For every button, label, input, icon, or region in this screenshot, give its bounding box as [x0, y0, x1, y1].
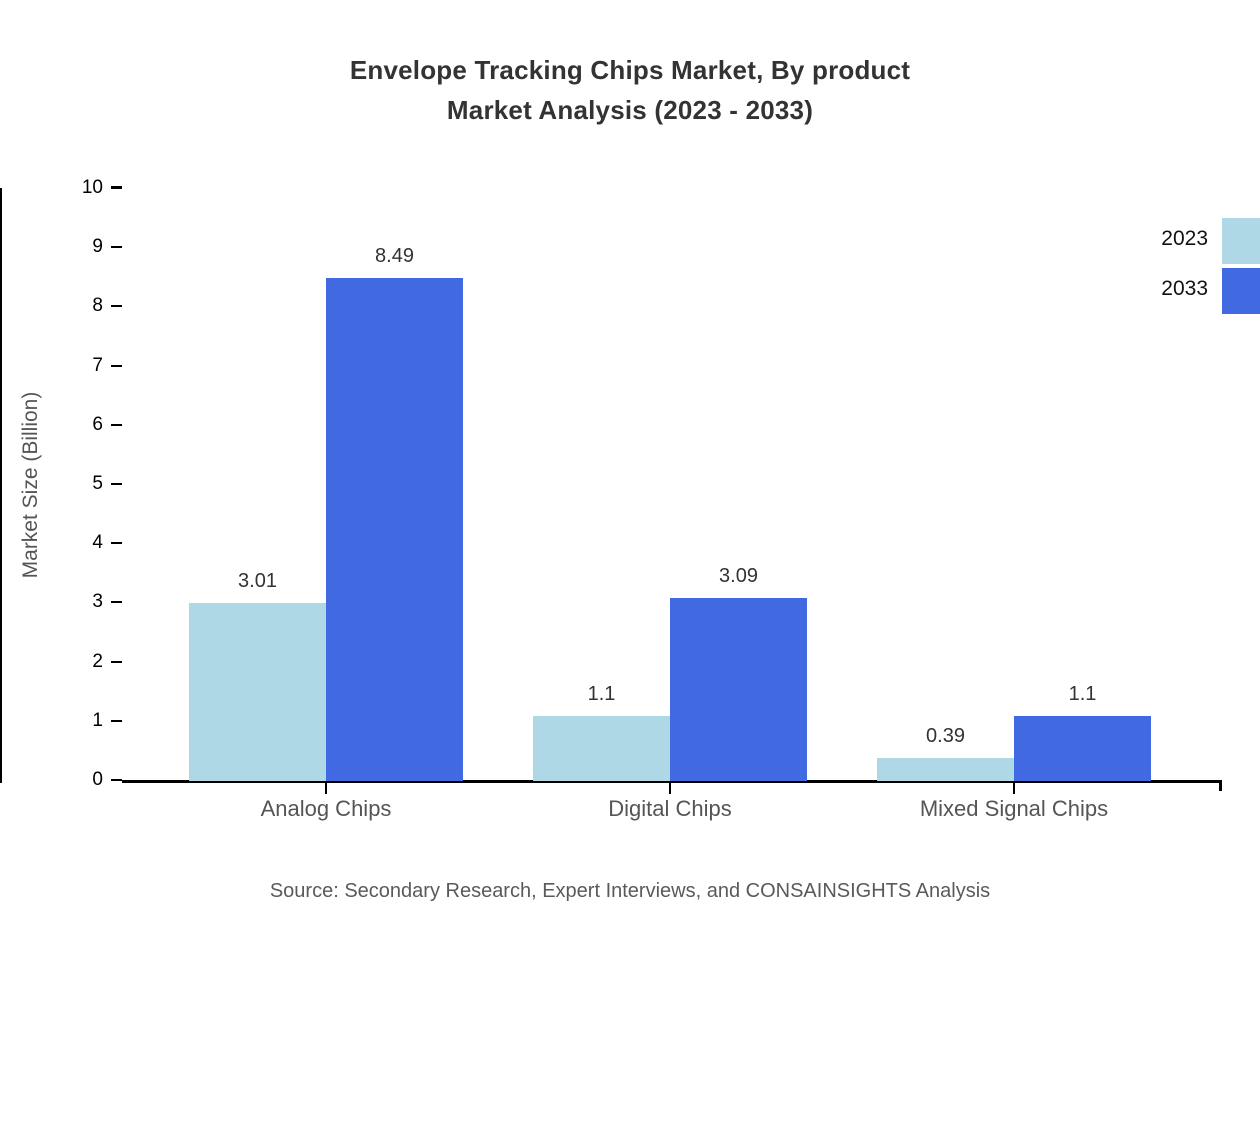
y-tick-mark — [111, 720, 122, 722]
legend-color-swatch — [1222, 268, 1260, 314]
y-axis-spine — [0, 188, 2, 783]
y-tick-mark — [111, 483, 122, 485]
y-tick-mark — [111, 187, 122, 189]
bar-value-label: 1.1 — [533, 683, 670, 705]
bar-digital-chips-2023[interactable] — [533, 716, 670, 781]
legend-label: 2023 — [1161, 226, 1208, 252]
y-tick-label: 6 — [43, 415, 103, 434]
source-note: Source: Secondary Research, Expert Inter… — [0, 878, 1260, 904]
y-tick-label: 4 — [43, 533, 103, 552]
chart-figure: Envelope Tracking Chips Market, By produ… — [0, 0, 1260, 920]
y-tick-label: 5 — [43, 474, 103, 493]
bar-value-label: 1.1 — [1014, 683, 1151, 705]
y-tick-mark — [111, 424, 122, 426]
y-tick-mark — [111, 779, 122, 781]
bar-value-label: 3.09 — [670, 565, 807, 587]
bar-analog-chips-2033[interactable] — [326, 278, 463, 781]
x-tick-mark — [1013, 783, 1015, 794]
bar-digital-chips-2033[interactable] — [670, 598, 807, 781]
bar-value-label: 0.39 — [877, 725, 1014, 747]
legend-color-swatch — [1222, 218, 1260, 264]
x-tick-mark — [325, 783, 327, 794]
bar-analog-chips-2023[interactable] — [189, 603, 326, 781]
y-tick-label: 3 — [43, 592, 103, 611]
y-tick-label: 7 — [43, 356, 103, 375]
y-tick-label: 1 — [43, 711, 103, 730]
bar-value-label: 8.49 — [326, 245, 463, 267]
y-tick-label: 10 — [43, 178, 103, 197]
x-tick-label-analog-chips: Analog Chips — [156, 795, 496, 823]
y-tick-mark — [111, 661, 122, 663]
chart-title-line-1: Envelope Tracking Chips Market, By produ… — [0, 50, 1260, 90]
plot-area: 3.018.491.13.090.391.1 — [122, 188, 1222, 781]
y-axis-label-wrapper: Market Size (Billion) — [14, 700, 48, 1130]
y-tick-mark — [111, 542, 122, 544]
legend-item-2023[interactable]: 2023 — [1130, 216, 1260, 266]
legend-label: 2033 — [1161, 276, 1208, 302]
y-tick-label: 0 — [43, 770, 103, 789]
y-tick-mark — [111, 246, 122, 248]
x-tick-label-digital-chips: Digital Chips — [500, 795, 840, 823]
y-tick-label: 2 — [43, 652, 103, 671]
chart-title: Envelope Tracking Chips Market, By produ… — [0, 50, 1260, 130]
y-tick-mark — [111, 601, 122, 603]
y-tick-label: 9 — [43, 237, 103, 256]
x-tick-label-mixed-signal-chips: Mixed Signal Chips — [844, 795, 1184, 823]
legend-item-2033[interactable]: 2033 — [1130, 266, 1260, 316]
y-tick-label: 8 — [43, 296, 103, 315]
x-axis-end-cap — [1219, 780, 1222, 791]
chart-legend: 20232033 — [1130, 216, 1260, 316]
y-tick-mark — [111, 365, 122, 367]
y-tick-mark — [111, 305, 122, 307]
chart-title-line-2: Market Analysis (2023 - 2033) — [0, 90, 1260, 130]
bar-mixed-signal-chips-2033[interactable] — [1014, 716, 1151, 781]
bar-mixed-signal-chips-2023[interactable] — [877, 758, 1014, 781]
x-tick-mark — [669, 783, 671, 794]
bar-value-label: 3.01 — [189, 570, 326, 592]
